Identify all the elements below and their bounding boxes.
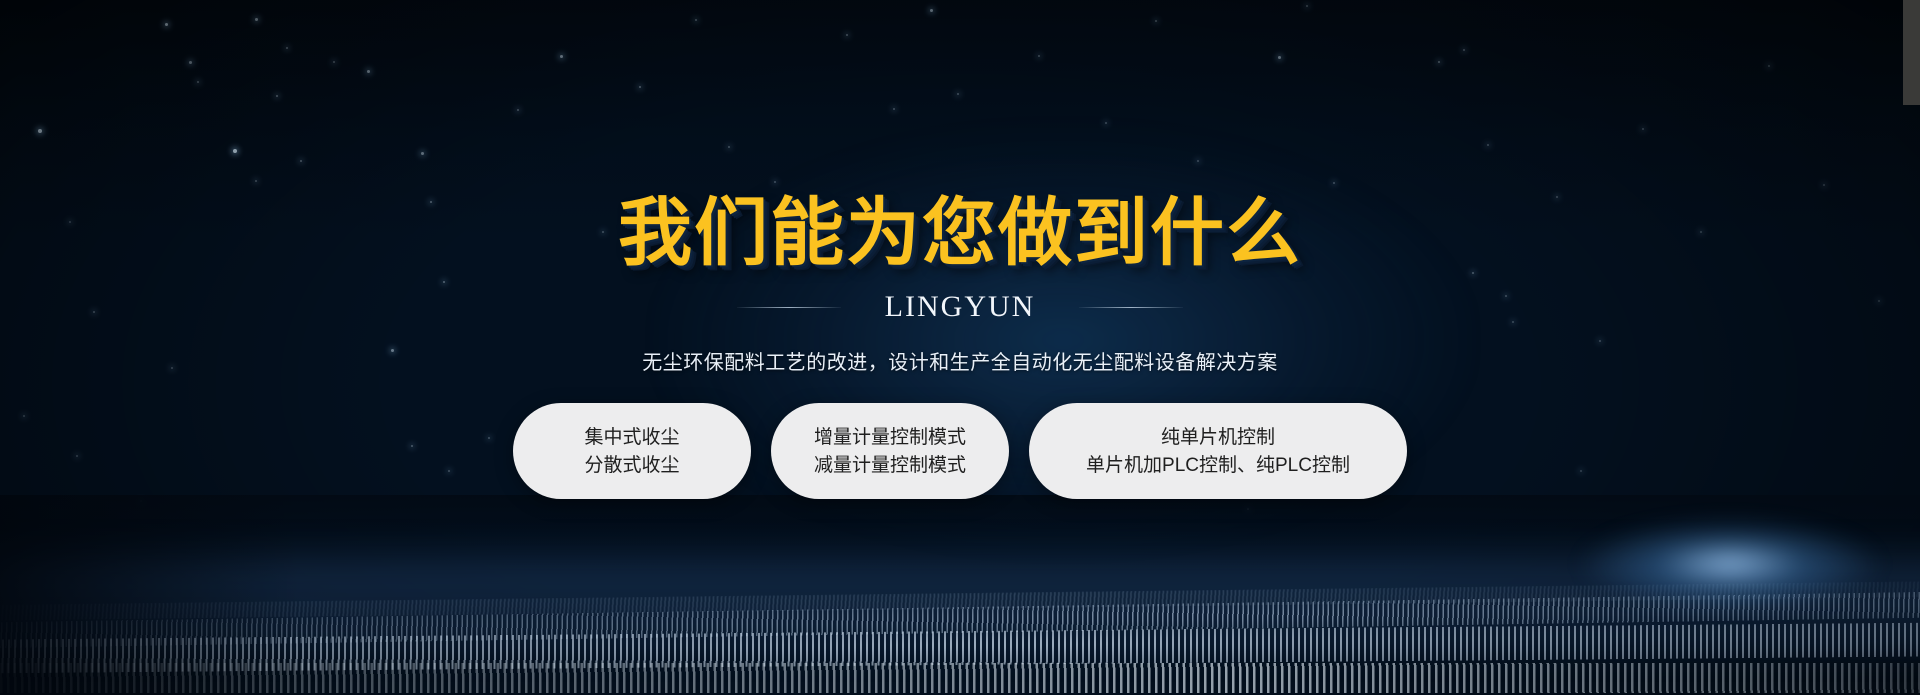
pill-line-2: 单片机加PLC控制、纯PLC控制 — [1086, 456, 1350, 475]
brand-subtitle-row: LINGYUN — [737, 290, 1184, 324]
pill-line-2: 减量计量控制模式 — [814, 456, 966, 475]
hero-content: 我们能为您做到什么 LINGYUN 无尘环保配料工艺的改进，设计和生产全自动化无… — [0, 0, 1920, 695]
feature-pill-group: 集中式收尘 分散式收尘 增量计量控制模式 减量计量控制模式 纯单片机控制 单片机… — [513, 403, 1407, 499]
page-scrollbar-thumb[interactable] — [1903, 0, 1920, 105]
pill-line-1: 纯单片机控制 — [1161, 428, 1275, 447]
pill-line-1: 增量计量控制模式 — [814, 428, 966, 447]
page-scrollbar[interactable] — [1903, 0, 1920, 695]
page-title: 我们能为您做到什么 — [618, 196, 1302, 270]
brand-name: LINGYUN — [885, 290, 1036, 324]
feature-pill-dust-collection[interactable]: 集中式收尘 分散式收尘 — [513, 403, 751, 499]
feature-pill-controller-type[interactable]: 纯单片机控制 单片机加PLC控制、纯PLC控制 — [1029, 403, 1407, 499]
divider-line-right — [1079, 307, 1183, 308]
page-description: 无尘环保配料工艺的改进，设计和生产全自动化无尘配料设备解决方案 — [642, 346, 1278, 375]
feature-pill-metering-control-mode[interactable]: 增量计量控制模式 减量计量控制模式 — [771, 403, 1009, 499]
hero-banner: 我们能为您做到什么 LINGYUN 无尘环保配料工艺的改进，设计和生产全自动化无… — [0, 0, 1920, 695]
pill-line-2: 分散式收尘 — [584, 456, 679, 475]
pill-line-1: 集中式收尘 — [584, 428, 679, 447]
divider-line-left — [737, 307, 841, 308]
